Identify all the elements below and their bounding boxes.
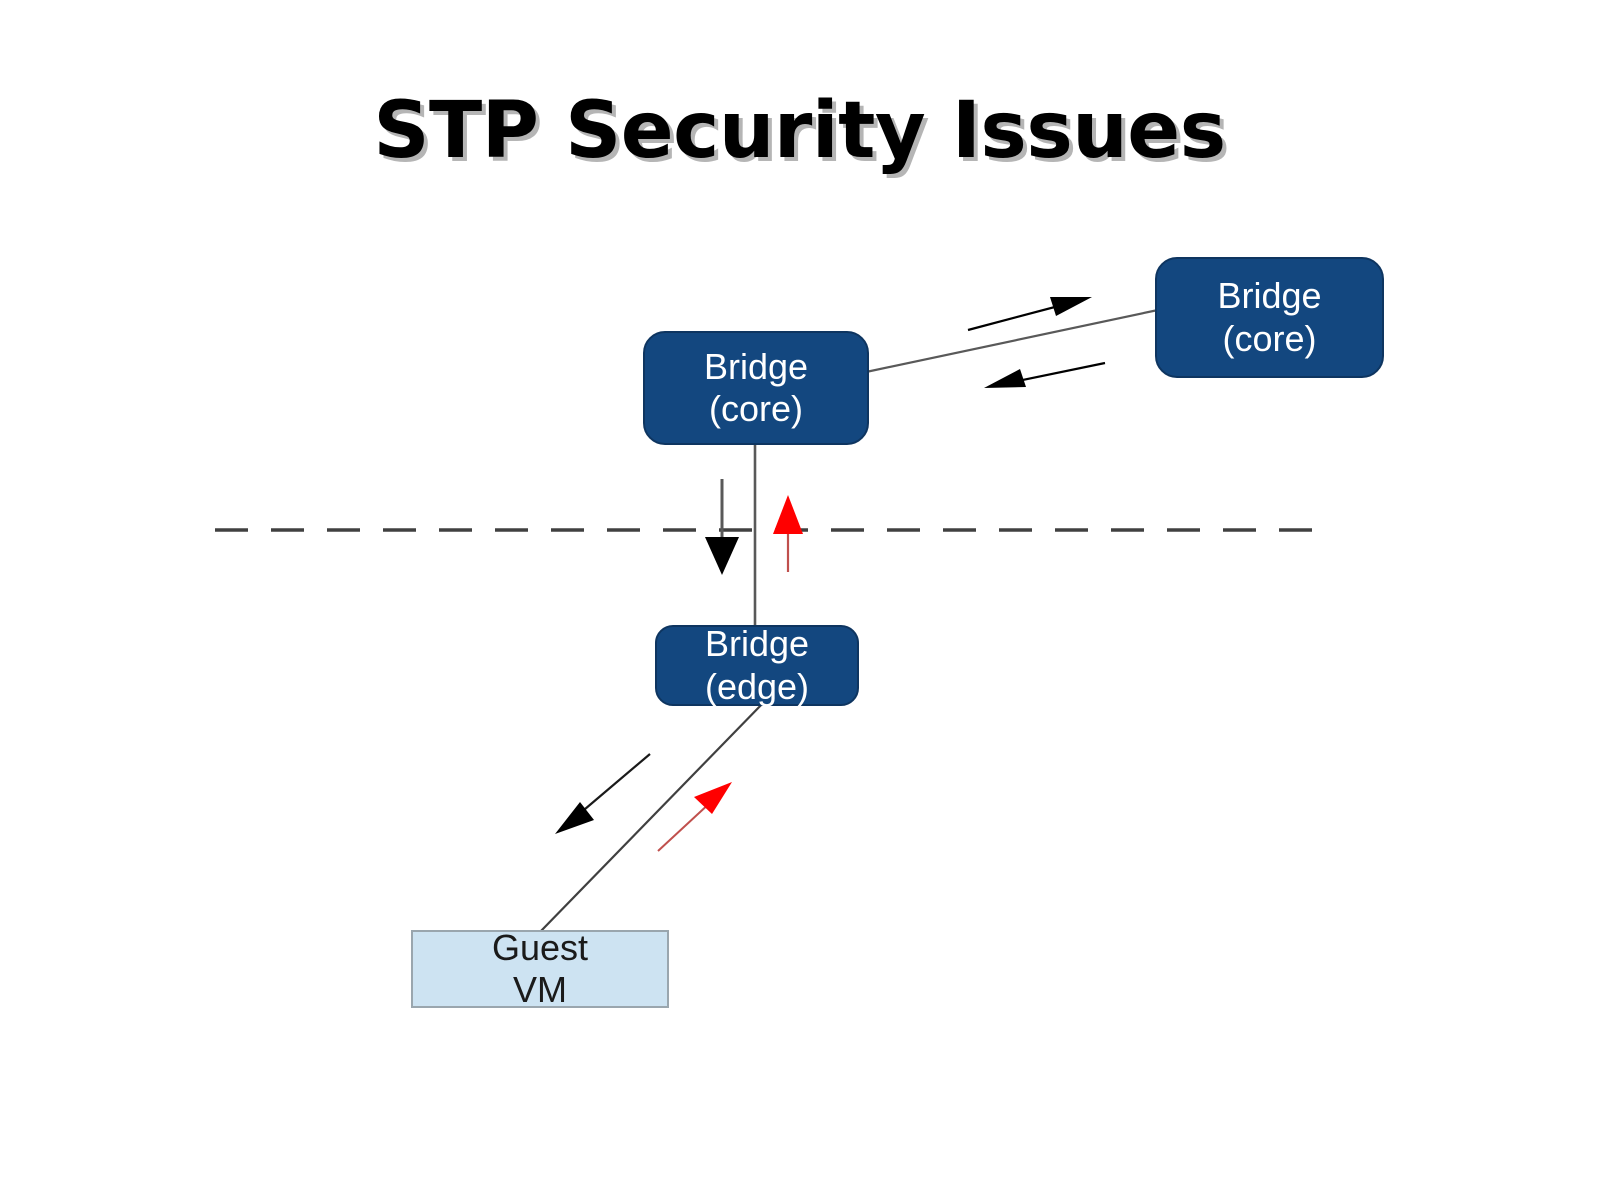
connector-layer [0,0,1599,1199]
flow-arrow-bpdu-down-edge [705,479,739,575]
slide-canvas: STP Security Issues [0,0,1599,1199]
node-bridge-core-right[interactable]: Bridge (core) [1155,257,1384,378]
node-label-line2: VM [513,969,567,1011]
node-bridge-edge[interactable]: Bridge (edge) [655,625,859,706]
node-label-line1: Bridge [705,623,809,665]
node-label-line2: (core) [709,388,803,430]
node-bridge-core-left[interactable]: Bridge (core) [643,331,869,445]
node-label-line1: Bridge [704,346,808,388]
page-title: STP Security Issues [0,86,1599,176]
node-label-line2: (edge) [705,666,809,708]
flow-arrow-bpdu-up-guest [658,782,732,851]
flow-arrow-bpdu-core-left [984,363,1105,388]
flow-arrow-bpdu-core-right [968,297,1092,330]
node-label-line2: (core) [1222,318,1316,360]
node-label-line1: Bridge [1217,275,1321,317]
node-guest-vm[interactable]: Guest VM [411,930,669,1008]
flow-arrow-bpdu-down-guest [555,754,650,834]
connector-edge-to-guest [540,702,764,932]
connector-core-left-to-core-right [866,310,1158,372]
node-label-line1: Guest [492,927,588,969]
flow-arrow-bpdu-up-spoof [773,495,803,572]
